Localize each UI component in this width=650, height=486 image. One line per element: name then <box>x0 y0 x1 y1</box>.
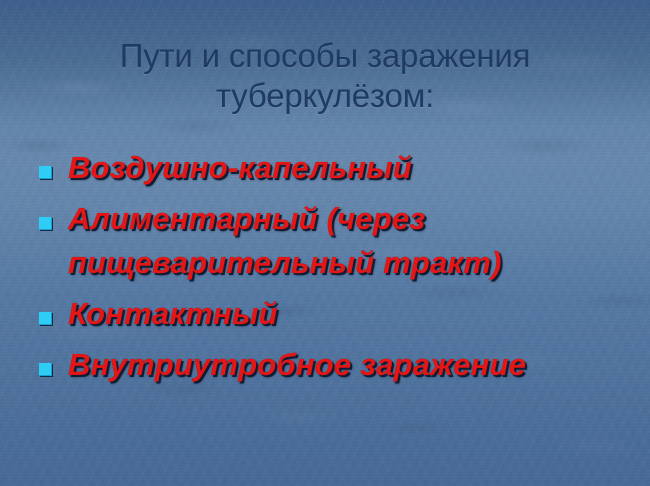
list-item-label-continuation: пищеварительный тракт) <box>68 241 636 285</box>
list-item-label: Контактный <box>68 292 636 336</box>
square-bullet-icon <box>39 312 52 325</box>
slide-title: Пути и способы заражения туберкулёзом: <box>30 36 620 116</box>
square-bullet-icon <box>39 166 52 179</box>
list-item: Алиментарный (через пищеварительный трак… <box>36 197 636 285</box>
list-item-label: Воздушно-капельный <box>68 146 636 190</box>
list-item: Контактный <box>36 292 636 336</box>
presentation-slide: Пути и способы заражения туберкулёзом: В… <box>0 0 650 486</box>
bullet-list: Воздушно-капельный Алиментарный (через п… <box>36 146 636 394</box>
square-bullet-icon <box>39 217 52 230</box>
list-item: Внутриутробное заражение <box>36 343 636 387</box>
list-item-label: Алиментарный (через <box>68 197 636 241</box>
list-item: Воздушно-капельный <box>36 146 636 190</box>
list-item-label: Внутриутробное заражение <box>68 343 636 387</box>
square-bullet-icon <box>39 363 52 376</box>
